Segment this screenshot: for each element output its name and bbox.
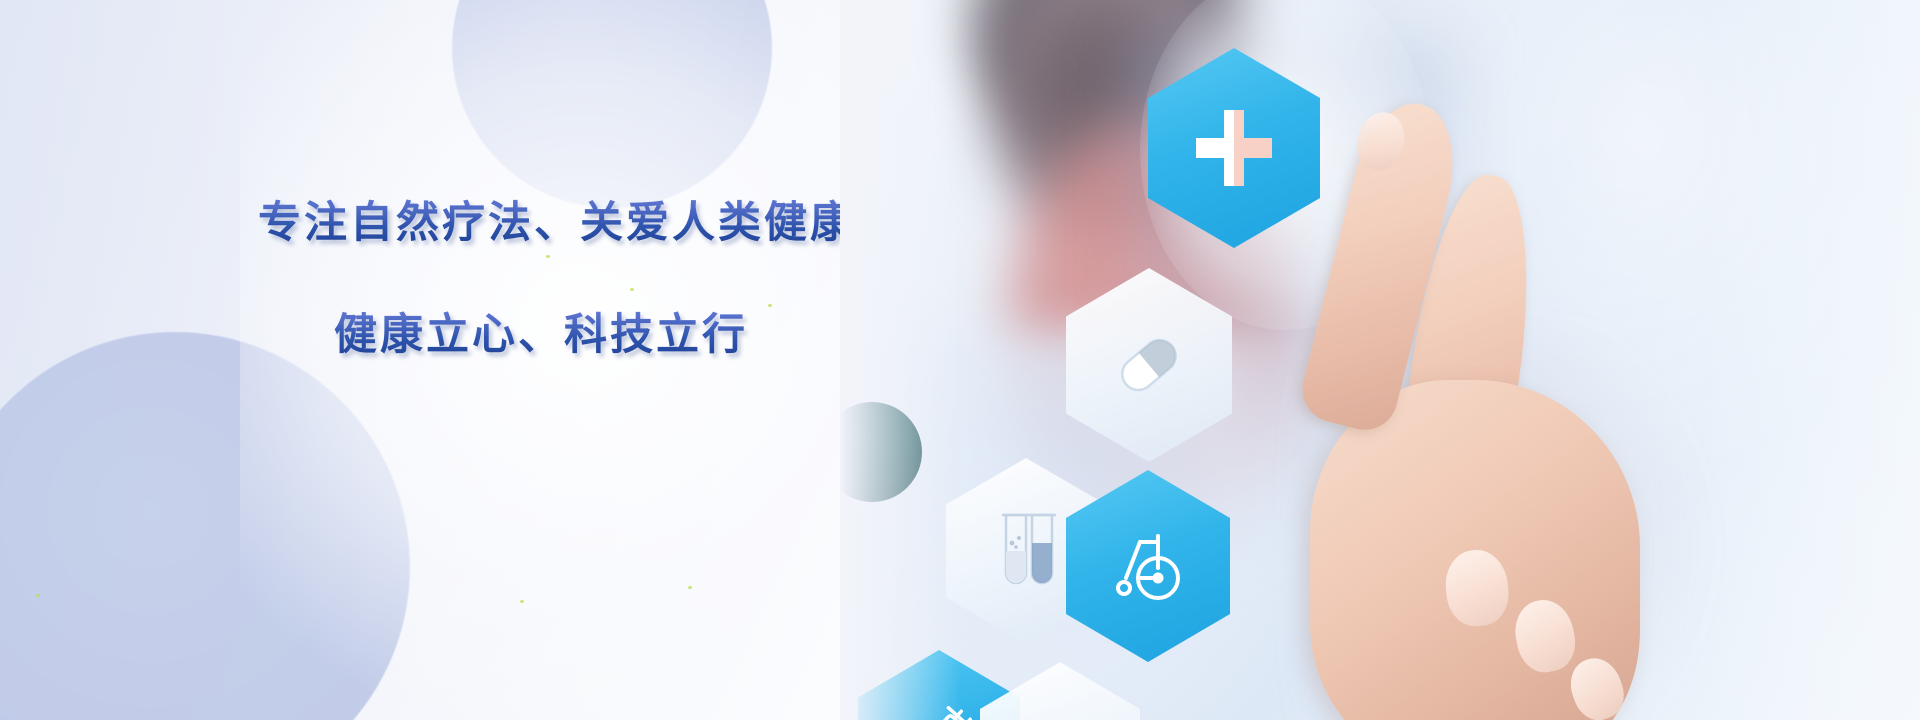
hero-image xyxy=(840,0,1920,720)
hero-banner: 专注自然疗法、关爱人类健康 健康立心、科技立行 xyxy=(0,0,1920,720)
headline-line-1: 专注自然疗法、关爱人类健康 xyxy=(258,188,856,250)
headline-line-2: 健康立心、科技立行 xyxy=(334,300,748,362)
